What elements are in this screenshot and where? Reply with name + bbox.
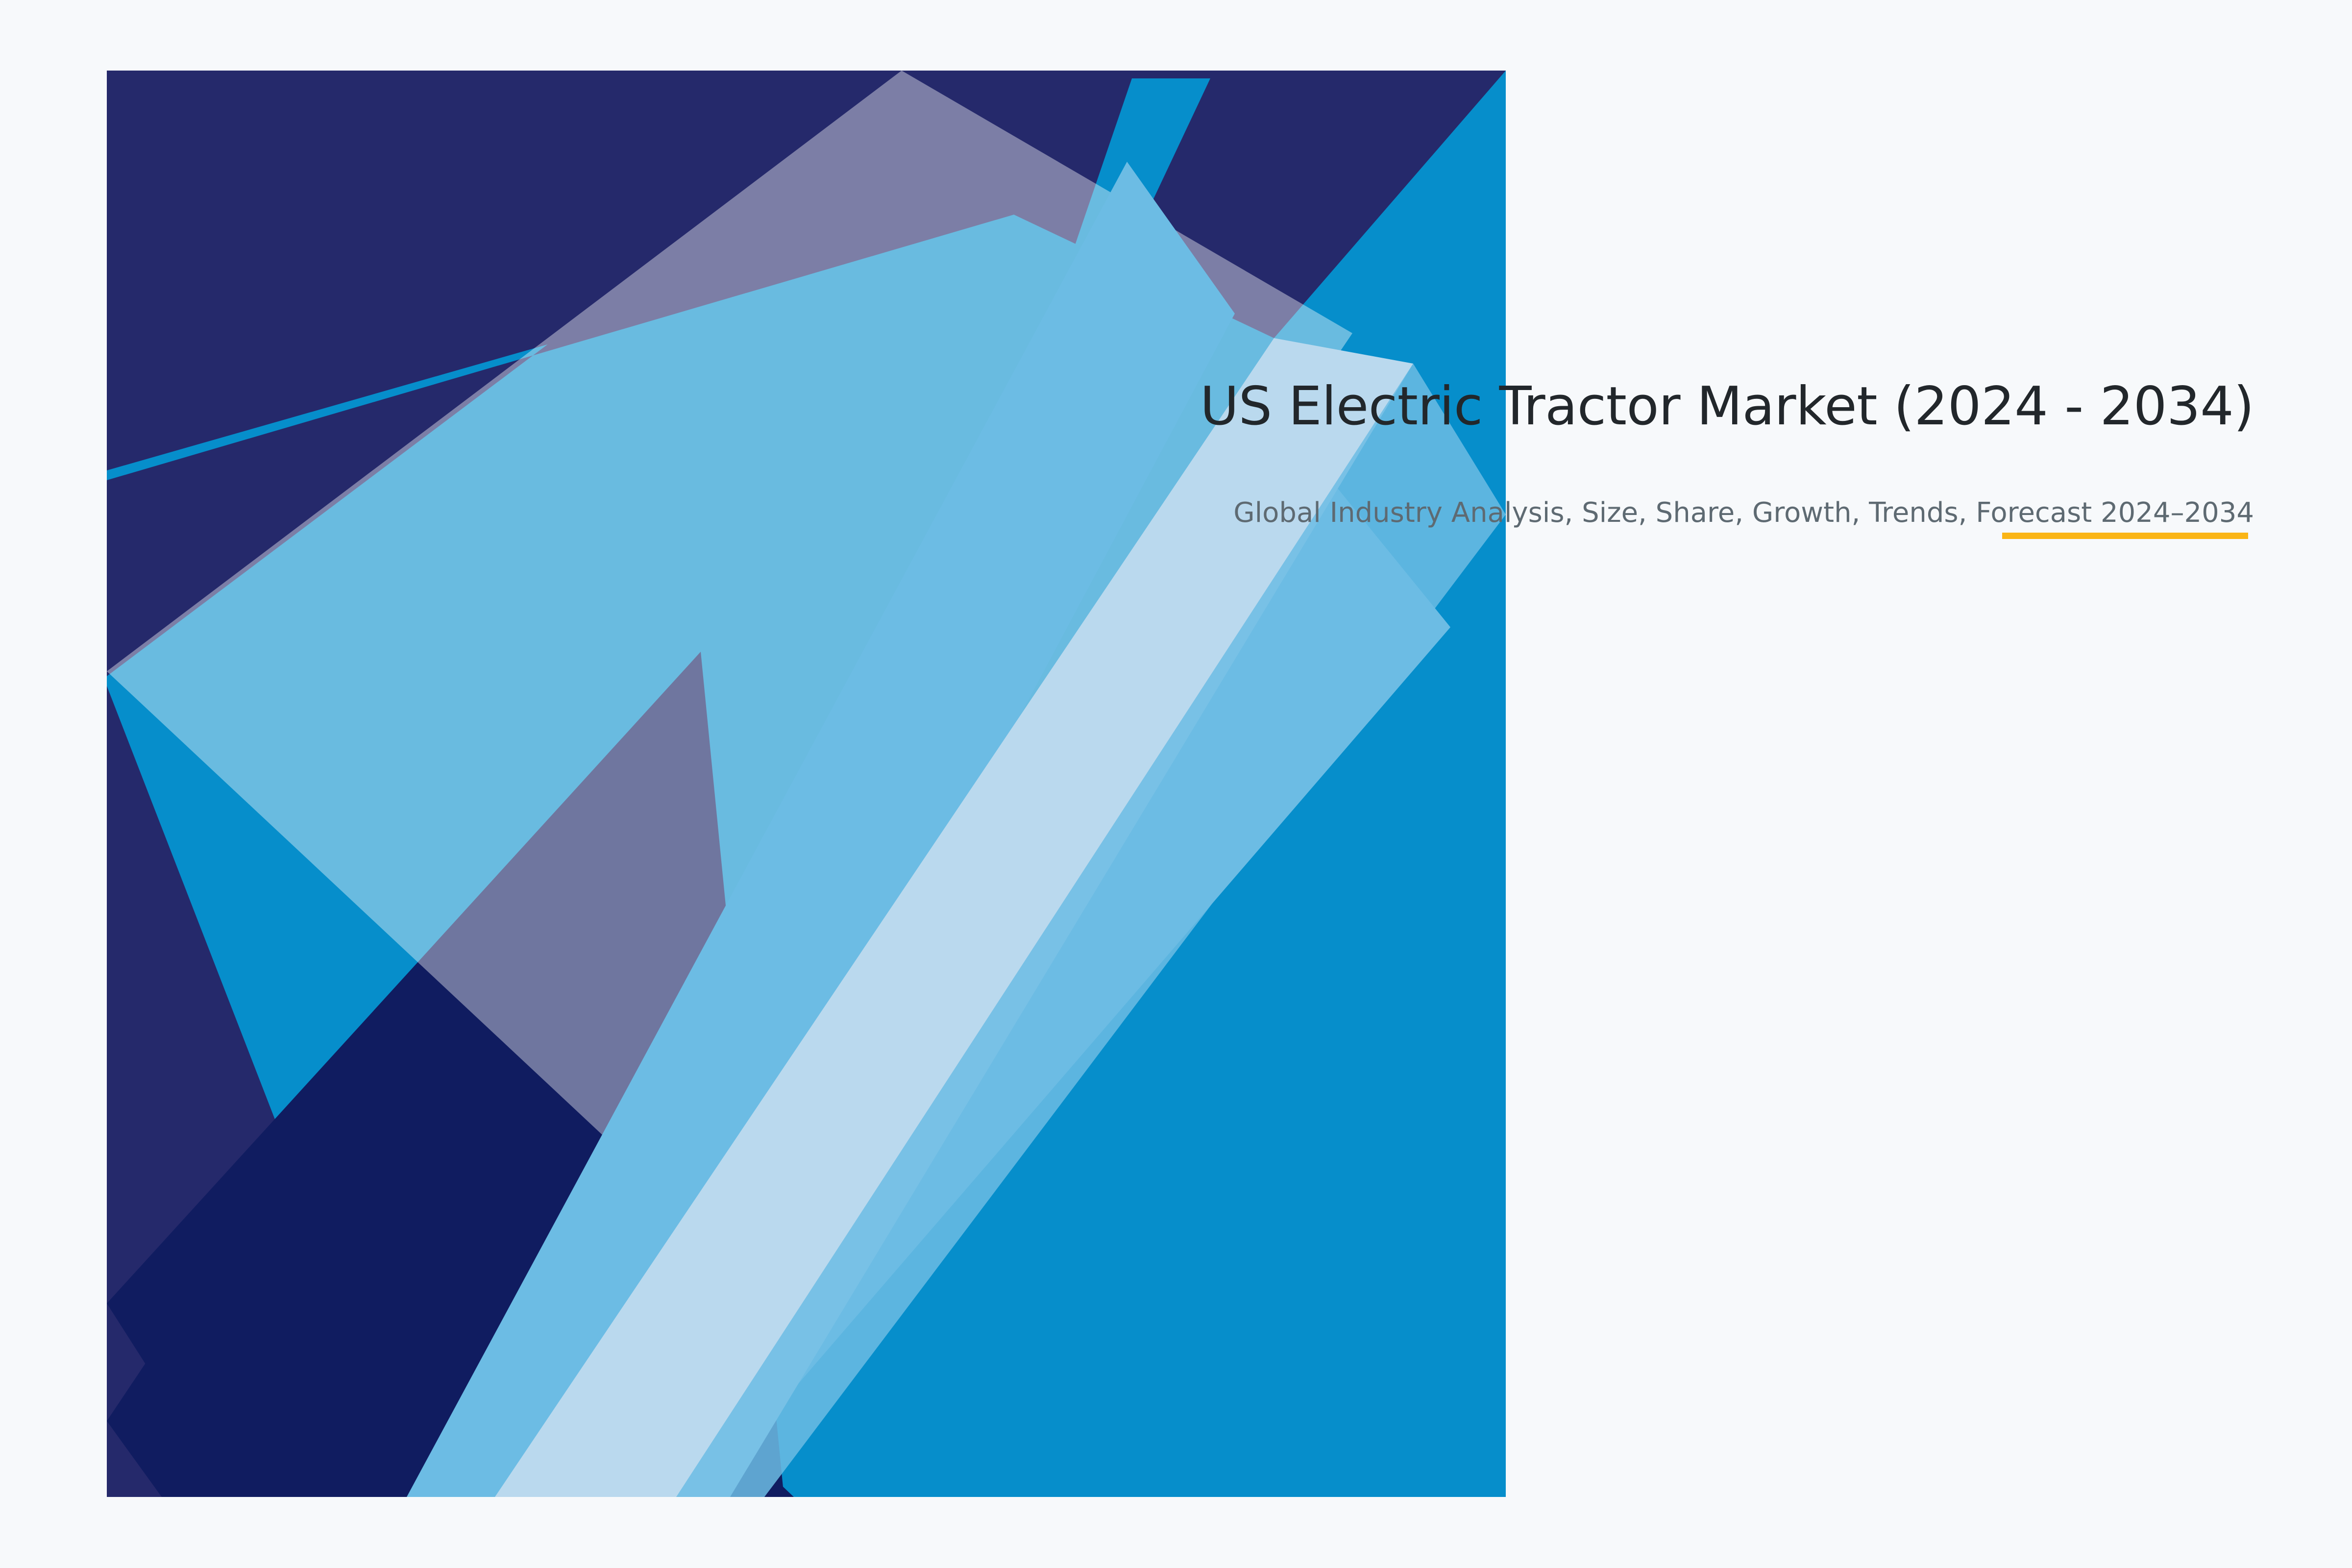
abstract-geometric-cover-graphic [0, 0, 2352, 1568]
cover-text-block: US Electric Tractor Market (2024 - 2034)… [931, 372, 2254, 531]
deep-navy-lower-block [107, 1068, 794, 1497]
cyan-field [107, 71, 1506, 1497]
navy-upper-field [107, 71, 1506, 1497]
navy-right-fan [710, 71, 1506, 338]
title-wrapper: US Electric Tractor Market (2024 - 2034) [931, 372, 2254, 441]
light-blue-beam-right [549, 470, 1450, 1497]
slate-blue-quad [107, 71, 1352, 1254]
deep-navy-wedge [107, 652, 784, 1497]
light-blue-beam [407, 162, 1235, 1497]
cover-slide: US Electric Tractor Market (2024 - 2034)… [0, 0, 2352, 1568]
title-underline-accent [2002, 533, 2248, 539]
page-subtitle: Global Industry Analysis, Size, Share, G… [931, 441, 2254, 531]
light-blue-edge-wedge [676, 364, 1506, 1497]
page-title: US Electric Tractor Market (2024 - 2034) [931, 372, 2254, 441]
